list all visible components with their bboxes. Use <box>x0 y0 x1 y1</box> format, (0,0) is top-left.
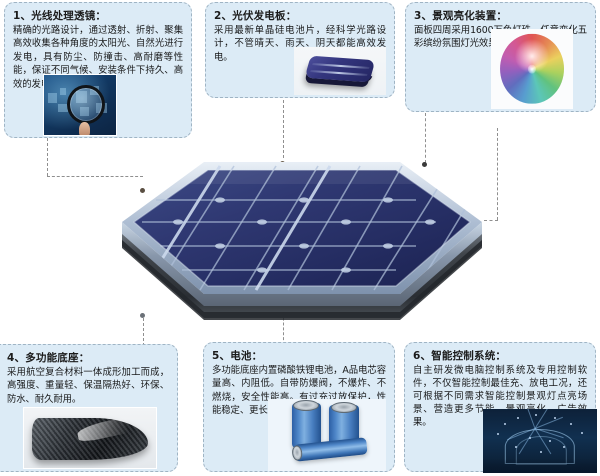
smart-city-control-photo <box>483 409 597 473</box>
battery-terminal <box>291 445 302 460</box>
info-card-4-multifunction-base[interactable]: 4、多功能底座： 采用航空复合材料一体成形加工而成，高强度、重量轻、保温隔热好、… <box>0 344 178 472</box>
info-card-1-light-processing-lens[interactable]: 1、光线处理透镜： 精确的光路设计，通过透射、折射、聚集高效收集各种角度的太阳光… <box>4 2 192 138</box>
battery-terminal <box>331 402 357 413</box>
battery-cell-1 <box>292 403 322 448</box>
card-1-title: 1、光线处理透镜： <box>13 9 183 23</box>
finger-illustration <box>79 122 91 136</box>
info-card-3-landscape-lighting[interactable]: 3、景观亮化装置： 面板四周采用1600万色灯珠，任意变化五彩缤纷氛围灯光效果 <box>405 2 596 112</box>
monocrystalline-solar-cell-photo <box>294 47 386 95</box>
card-2-title: 2、光伏发电板： <box>214 9 386 23</box>
lithium-iron-phosphate-battery-photo <box>268 399 386 471</box>
battery-terminal <box>293 400 319 411</box>
solar-panel-illustration <box>116 148 488 338</box>
card-6-title: 6、智能控制系统： <box>413 349 587 363</box>
info-card-2-pv-power-panel[interactable]: 2、光伏发电板： 采用最新单晶硅电池片，经科学光路设计，不管晴天、雨天、阴天都能… <box>205 2 395 98</box>
color-wheel-center <box>528 65 536 74</box>
solar-cell-top <box>304 55 375 82</box>
magnifier-lens-photo <box>43 74 117 136</box>
card-4-title: 4、多功能底座： <box>7 351 169 365</box>
connector-line-1 <box>47 138 48 176</box>
color-wheel-photo <box>491 29 573 109</box>
product-infographic: 1、光线处理透镜： 精确的光路设计，通过透射、折射、聚集高效收集各种角度的太阳光… <box>0 0 600 476</box>
city-skyline <box>483 459 597 473</box>
card-4-body: 采用航空复合材料一体成形加工而成，高强度、重量轻、保温隔热好、环保、防水、耐久耐… <box>7 366 169 406</box>
card-3-title: 3、景观亮化装置： <box>414 9 587 23</box>
magnifier-glass-icon <box>67 85 105 125</box>
hexagonal-solar-panel <box>116 148 488 338</box>
info-card-6-smart-control-system[interactable]: 6、智能控制系统： 自主研发微电脑控制系统及专用控制软件，不仅智能控制最佳充、放… <box>404 342 596 472</box>
carbon-fiber-base-photo <box>23 407 157 469</box>
info-card-5-battery[interactable]: 5、电池： 多功能底座内置磷酸铁锂电池，A品电芯容量高、内阻低。自带防爆阀，不爆… <box>203 342 395 472</box>
connector-line-6 <box>497 128 498 220</box>
card-5-title: 5、电池： <box>212 349 386 363</box>
